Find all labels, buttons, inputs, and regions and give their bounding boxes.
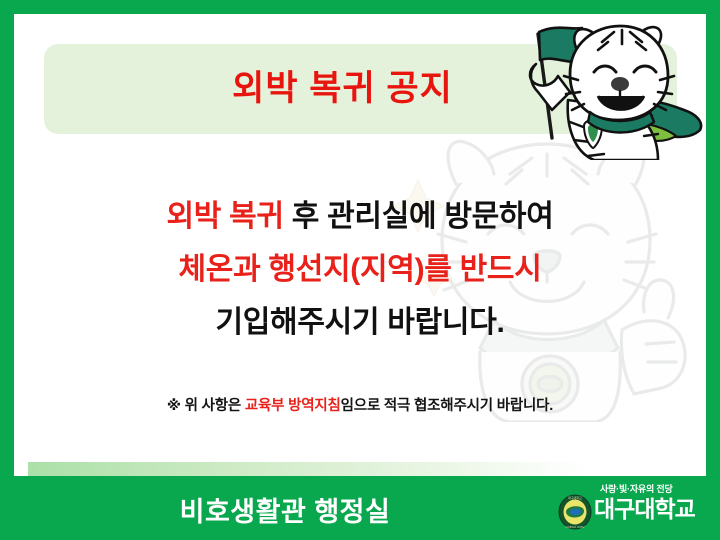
body-line-3-segment-1: 기입해주시기 바랍니다.: [215, 306, 504, 339]
university-name: 대구대학교: [594, 496, 710, 522]
body-text: 외박 복귀 후 관리실에 방문하여 체온과 행선지(지역)를 반드시 기입해주시…: [14, 190, 706, 349]
page-title: 외박 복귀 공지: [232, 71, 453, 106]
body-line-2: 체온과 행선지(지역)를 반드시: [14, 243, 706, 296]
bottom-gradient-strip: [28, 462, 588, 476]
body-line-1-segment-1: 외박 복귀: [166, 200, 283, 233]
notice-poster: 외박 복귀 공지: [0, 0, 720, 540]
svg-text:대구대학교: 대구대학교: [568, 495, 582, 500]
footnote-highlight: 교육부 방역지침: [245, 398, 341, 414]
footnote-suffix: 임으로 적극 협조해주시기 바랍니다.: [341, 398, 553, 414]
body-line-2-segment-1: 체온과 행선지(지역)를 반드시: [178, 253, 541, 286]
footnote-prefix: ※ 위 사항은: [167, 398, 245, 414]
title-banner: 외박 복귀 공지: [44, 44, 677, 134]
university-logo: 대구대학교 DAEGU UNIV 사랑·빛·자유의 전당 대구대학교: [558, 482, 708, 534]
body-line-1-segment-2: 후 관리실에 방문하여: [284, 200, 554, 233]
poster-canvas: 외박 복귀 공지: [14, 14, 706, 476]
body-line-3: 기입해주시기 바랍니다.: [14, 296, 706, 349]
university-logo-text: 사랑·빛·자유의 전당 대구대학교: [594, 482, 710, 522]
footnote: ※ 위 사항은 교육부 방역지침임으로 적극 협조해주시기 바랍니다.: [14, 394, 706, 415]
body-line-1: 외박 복귀 후 관리실에 방문하여: [14, 190, 706, 243]
university-tagline: 사랑·빛·자유의 전당: [594, 482, 710, 496]
daegu-university-emblem-icon: 대구대학교 DAEGU UNIV: [558, 494, 592, 530]
svg-text:DAEGU UNIV: DAEGU UNIV: [565, 525, 585, 529]
